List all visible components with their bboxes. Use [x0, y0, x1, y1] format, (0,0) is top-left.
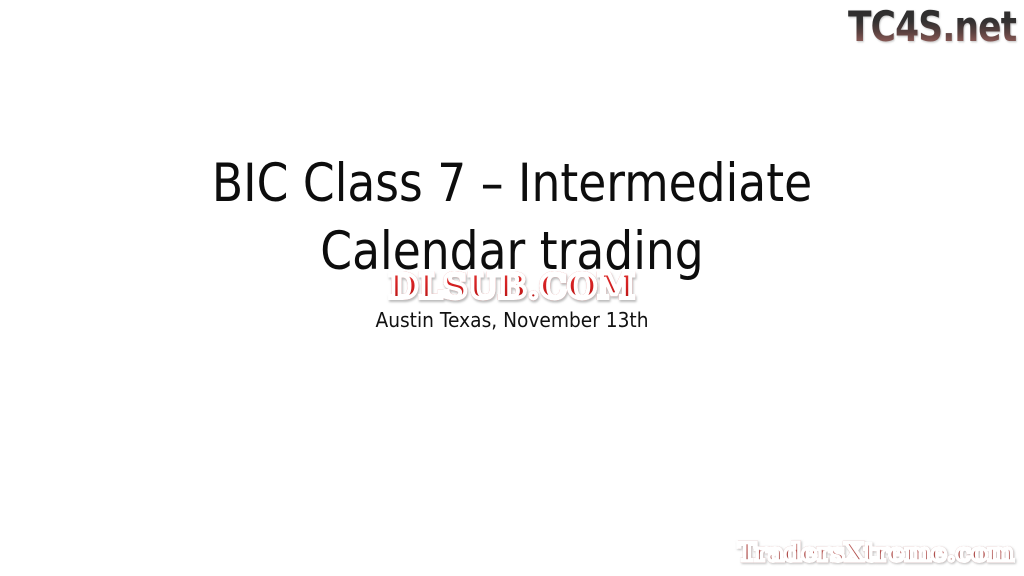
slide-subtitle: Austin Texas, November 13th: [36, 307, 988, 333]
presentation-slide: TC4S.net BIC Class 7 – Intermediate Cale…: [0, 0, 1024, 576]
tradersxtreme-watermark-label: TradersXtreme.com: [738, 538, 1014, 567]
tc4s-watermark: TC4S.net: [848, 4, 1016, 50]
tradersxtreme-watermark: TradersXtreme.com: [738, 538, 1014, 568]
dlsub-watermark: DLSUB.COM: [389, 268, 636, 306]
slide-title-block: BIC Class 7 – Intermediate Calendar trad…: [0, 150, 1024, 286]
slide-title-line-1: BIC Class 7 – Intermediate: [72, 150, 953, 218]
dlsub-watermark-label: DLSUB.COM: [389, 267, 636, 307]
